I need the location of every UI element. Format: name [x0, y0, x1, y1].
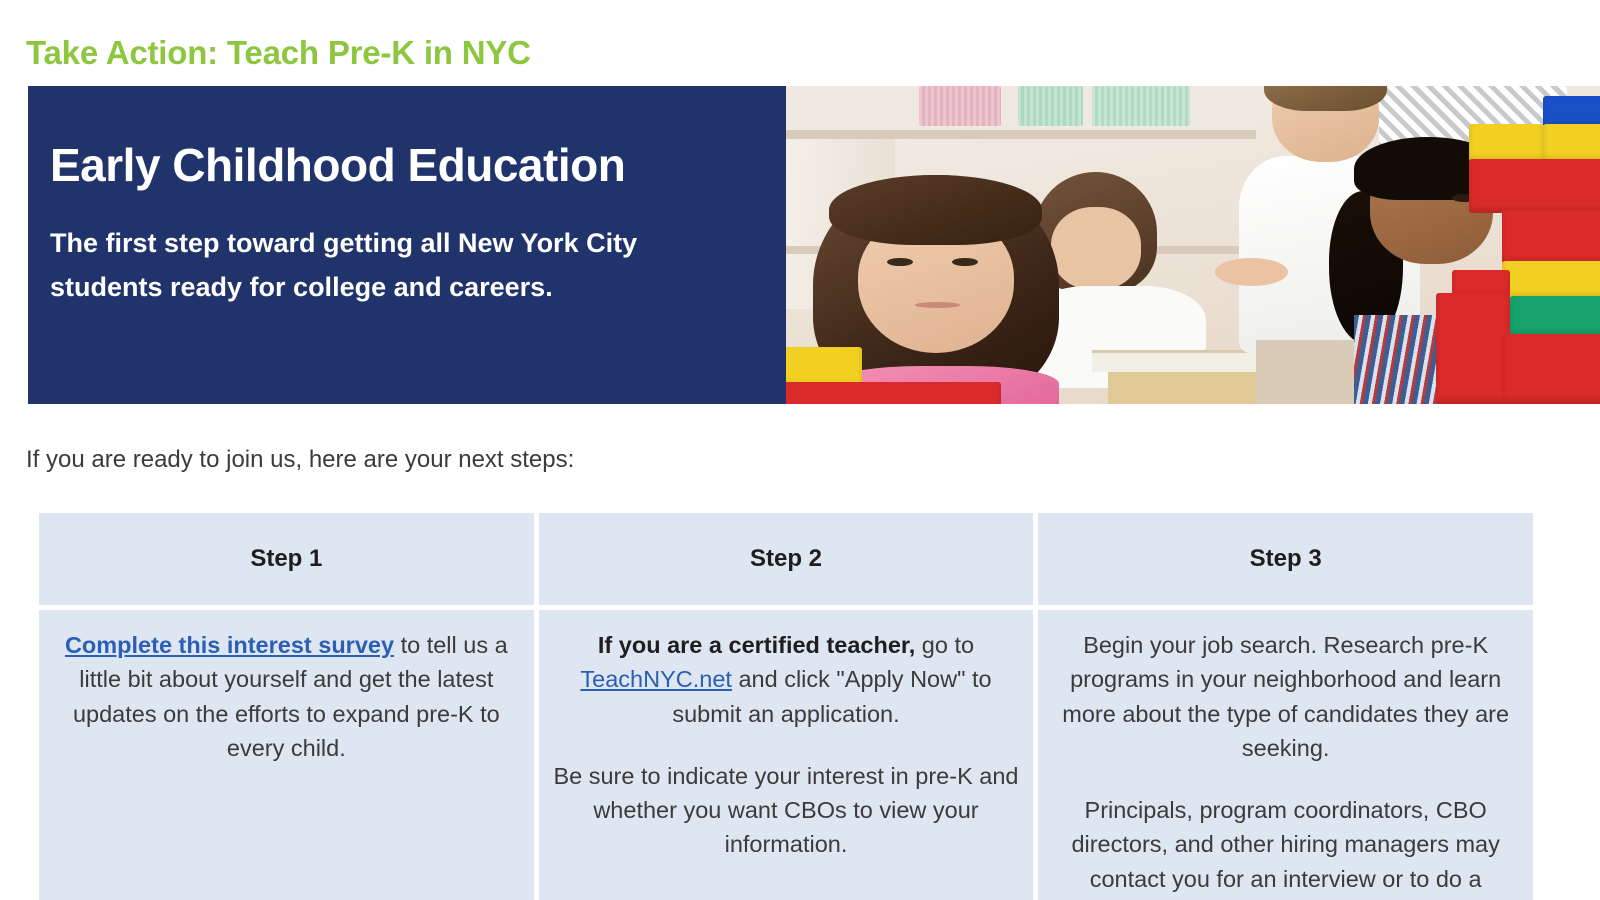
column-header-step-1: Step 1 — [39, 513, 534, 605]
inline-link[interactable]: TeachNYC.net — [580, 666, 732, 692]
photo-book — [919, 86, 1001, 126]
cell-paragraph: Begin your job search. Research pre-K pr… — [1052, 628, 1519, 765]
hero-headline: Early Childhood Education — [50, 138, 625, 192]
photo-left-edge — [780, 86, 786, 404]
photo-block — [1436, 293, 1510, 404]
photo-block — [1510, 296, 1600, 337]
hero-photo — [780, 86, 1600, 404]
photo-book — [1018, 86, 1084, 126]
photo-block — [1469, 124, 1543, 162]
table-header-row: Step 1 Step 2 Step 3 — [39, 513, 1533, 605]
photo-block — [1543, 124, 1600, 162]
body-text: Principals, program coordinators, CBO di… — [1071, 797, 1499, 892]
photo-girl-eye — [952, 258, 978, 266]
photo-shelf-edge — [780, 130, 1256, 139]
photo-girl-bangs — [829, 175, 1042, 245]
body-text: Begin your job search. Research pre-K pr… — [1062, 632, 1509, 761]
page-title: Take Action: Teach Pre-K in NYC — [26, 34, 531, 72]
body-text: go to — [915, 632, 974, 658]
hero-subhead: The first step toward getting all New Yo… — [50, 222, 690, 309]
cell-step-2: If you are a certified teacher, go to Te… — [539, 610, 1034, 900]
inline-link[interactable]: Complete this interest survey — [65, 632, 394, 658]
table-row: Complete this interest survey to tell us… — [39, 610, 1533, 900]
page-root: Take Action: Teach Pre-K in NYC Early Ch… — [0, 0, 1600, 900]
cell-step-3: Begin your job search. Research pre-K pr… — [1038, 610, 1533, 900]
next-steps-table: Step 1 Step 2 Step 3 Complete this inter… — [34, 508, 1538, 900]
hero-banner: Early Childhood Education The first step… — [28, 86, 1600, 404]
column-header-step-2: Step 2 — [539, 513, 1034, 605]
photo-block — [1502, 334, 1600, 404]
photo-block — [1502, 261, 1600, 299]
photo-girl-eye — [887, 258, 913, 266]
photo-block — [1469, 159, 1600, 213]
photo-girl-mouth — [915, 302, 960, 308]
photo-block — [780, 382, 1001, 404]
cell-paragraph: Complete this interest survey to tell us… — [53, 628, 520, 765]
body-text: Be sure to indicate your interest in pre… — [553, 763, 1018, 858]
cell-paragraph: Principals, program coordinators, CBO di… — [1052, 793, 1519, 896]
photo-block — [1502, 210, 1600, 264]
column-header-step-3: Step 3 — [1038, 513, 1533, 605]
cell-step-1: Complete this interest survey to tell us… — [39, 610, 534, 900]
photo-child-background-face — [1051, 207, 1141, 290]
emphasis-text: If you are a certified teacher, — [598, 632, 915, 658]
cell-paragraph: If you are a certified teacher, go to Te… — [553, 628, 1020, 731]
cell-paragraph: Be sure to indicate your interest in pre… — [553, 759, 1020, 862]
photo-block — [1543, 96, 1600, 128]
hero-text-panel: Early Childhood Education The first step… — [28, 86, 780, 404]
photo-book — [1092, 86, 1190, 126]
intro-text: If you are ready to join us, here are yo… — [26, 446, 574, 474]
